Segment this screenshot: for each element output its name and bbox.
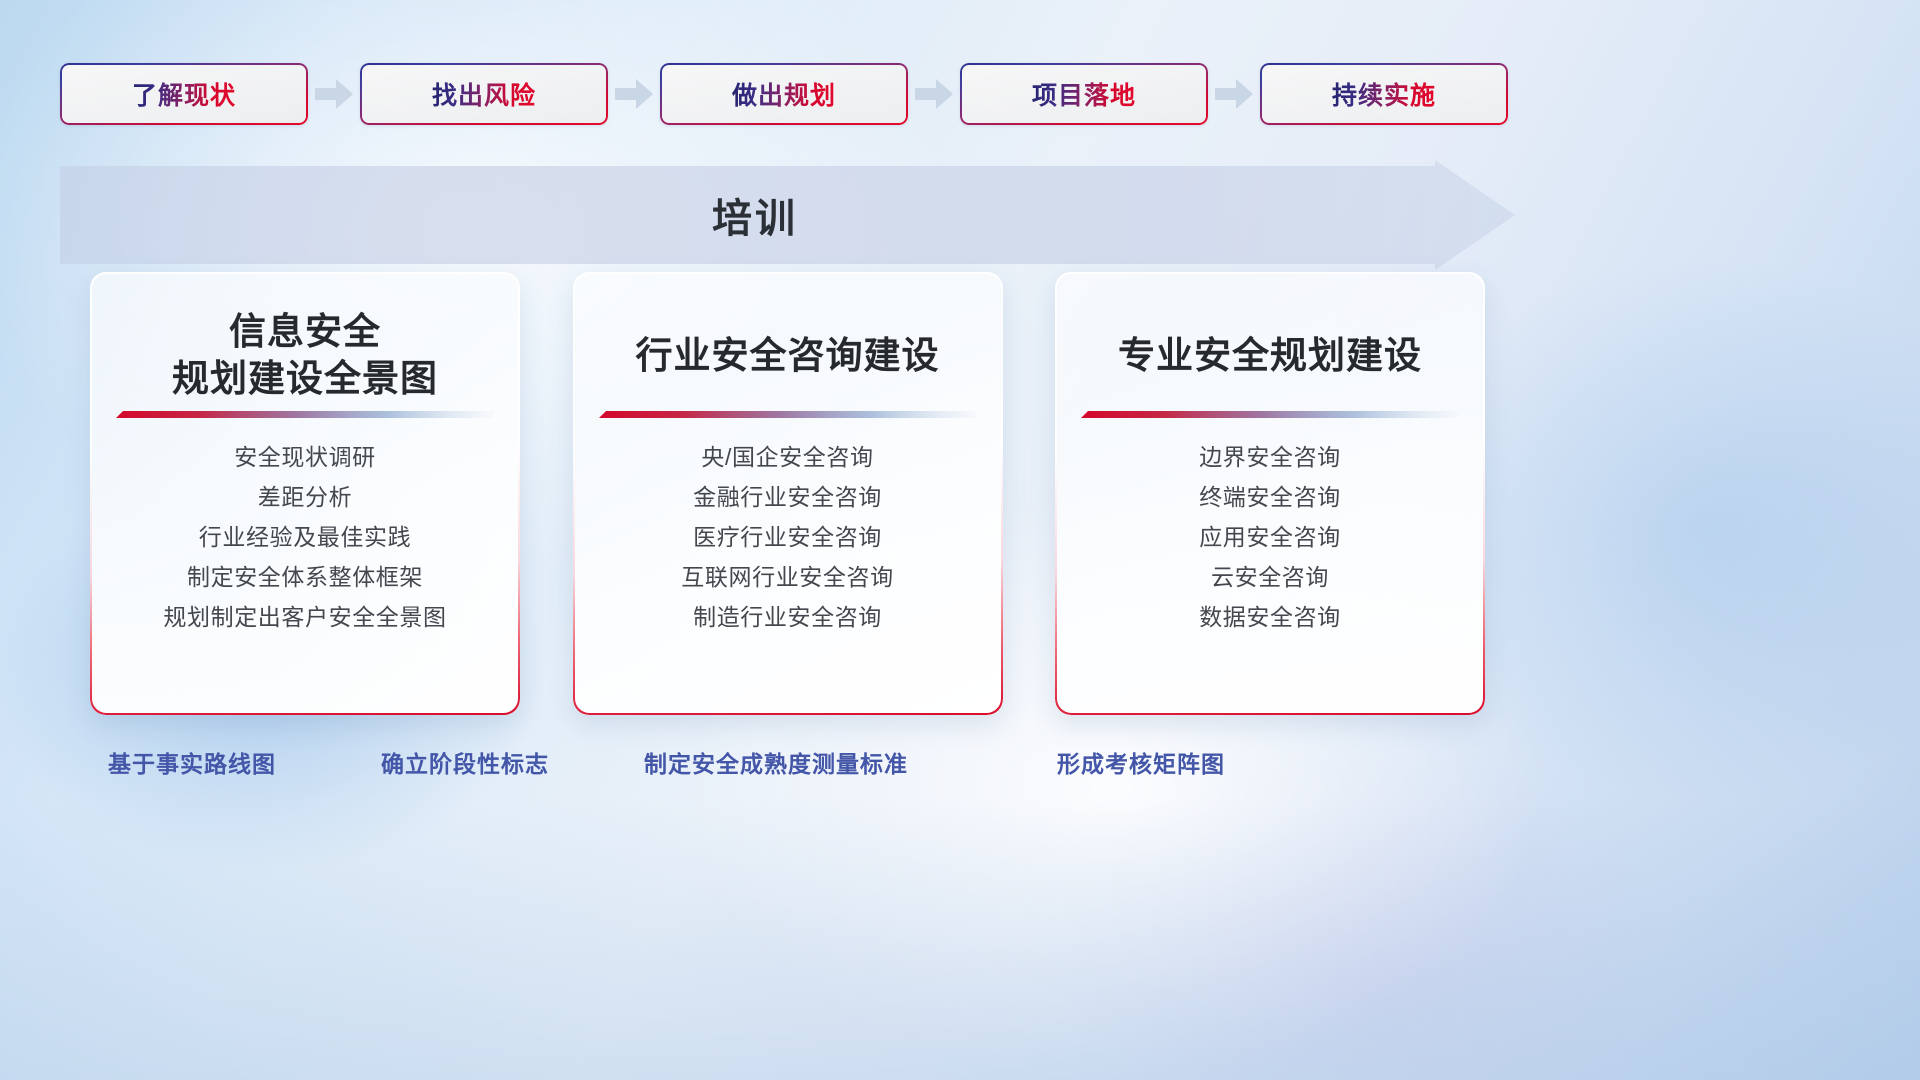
slide-stage: 了解现状 找出风险 做出规划 项目落地 (0, 0, 1920, 1080)
list-item: 互联网行业安全咨询 (681, 566, 893, 589)
card-industry-security-consulting[interactable]: 行业安全咨询建设 (573, 272, 1003, 715)
card-inner: 专业安全规划建设 (1055, 272, 1485, 715)
list-item: 数据安全咨询 (1199, 606, 1341, 629)
list-item: 应用安全咨询 (1199, 526, 1341, 549)
step-arrow-icon-3 (908, 63, 960, 125)
card-list: 边界安全咨询 终端安全咨询 应用安全咨询 云安全咨询 数据安全咨询 (1081, 446, 1459, 646)
training-banner: 培训 (60, 160, 1515, 270)
list-item: 央/国企安全咨询 (701, 446, 873, 469)
step-label-5: 持续实施 (1332, 76, 1436, 112)
card-title-line-1: 专业安全规划建设 (1118, 335, 1422, 376)
step-label-2: 找出风险 (432, 76, 536, 112)
card-divider-icon (599, 409, 977, 422)
list-item: 制造行业安全咨询 (693, 606, 882, 629)
step-box-4[interactable]: 项目落地 (960, 63, 1208, 125)
step-label-1: 了解现状 (132, 76, 236, 112)
list-item: 医疗行业安全咨询 (693, 526, 882, 549)
list-item: 行业经验及最佳实践 (199, 526, 411, 549)
caption-roadmap: 基于事实路线图 (108, 745, 276, 779)
training-banner-label: 培训 (60, 160, 1450, 270)
caption-maturity-model: 制定安全成熟度测量标准 (644, 745, 908, 779)
process-step-row: 了解现状 找出风险 做出规划 项目落地 (60, 63, 1510, 125)
card-title: 信息安全 规划建设全景图 (172, 308, 438, 403)
step-label-3: 做出规划 (732, 76, 836, 112)
list-item: 边界安全咨询 (1199, 446, 1341, 469)
card-information-security-blueprint[interactable]: 信息安全 规划建设全景图 (90, 272, 520, 715)
list-item: 云安全咨询 (1211, 566, 1329, 589)
card-inner: 信息安全 规划建设全景图 (90, 272, 520, 715)
card-inner: 行业安全咨询建设 (573, 272, 1003, 715)
list-item: 制定安全体系整体框架 (187, 566, 423, 589)
step-label-4: 项目落地 (1032, 76, 1136, 112)
card-title: 行业安全咨询建设 (636, 308, 940, 379)
card-professional-security-planning[interactable]: 专业安全规划建设 (1055, 272, 1485, 715)
card-list: 安全现状调研 差距分析 行业经验及最佳实践 制定安全体系整体框架 规划制定出客户… (116, 446, 494, 646)
step-box-5[interactable]: 持续实施 (1260, 63, 1508, 125)
step-arrow-icon-1 (308, 63, 360, 125)
card-divider-icon (116, 409, 494, 422)
card-title-line-1: 行业安全咨询建设 (636, 335, 940, 376)
list-item: 安全现状调研 (234, 446, 376, 469)
caption-kpi-matrix: 形成考核矩阵图 (1057, 745, 1225, 779)
step-box-1[interactable]: 了解现状 (60, 63, 308, 125)
card-title-line-2: 规划建设全景图 (172, 355, 438, 402)
card-divider-icon (1081, 409, 1459, 422)
card-list: 央/国企安全咨询 金融行业安全咨询 医疗行业安全咨询 互联网行业安全咨询 制造行… (599, 446, 977, 646)
list-item: 差距分析 (258, 486, 352, 509)
card-title: 专业安全规划建设 (1118, 308, 1422, 379)
step-box-2[interactable]: 找出风险 (360, 63, 608, 125)
caption-milestones: 确立阶段性标志 (381, 745, 549, 779)
list-item: 终端安全咨询 (1199, 486, 1341, 509)
step-arrow-icon-4 (1208, 63, 1260, 125)
step-arrow-icon-2 (608, 63, 660, 125)
step-box-3[interactable]: 做出规划 (660, 63, 908, 125)
card-row: 信息安全 规划建设全景图 (90, 272, 1485, 715)
list-item: 金融行业安全咨询 (693, 486, 882, 509)
caption-row: 基于事实路线图 确立阶段性标志 制定安全成熟度测量标准 形成考核矩阵图 (0, 745, 1920, 789)
list-item: 规划制定出客户安全全景图 (163, 606, 446, 629)
card-title-line-1: 信息安全 (229, 311, 381, 352)
